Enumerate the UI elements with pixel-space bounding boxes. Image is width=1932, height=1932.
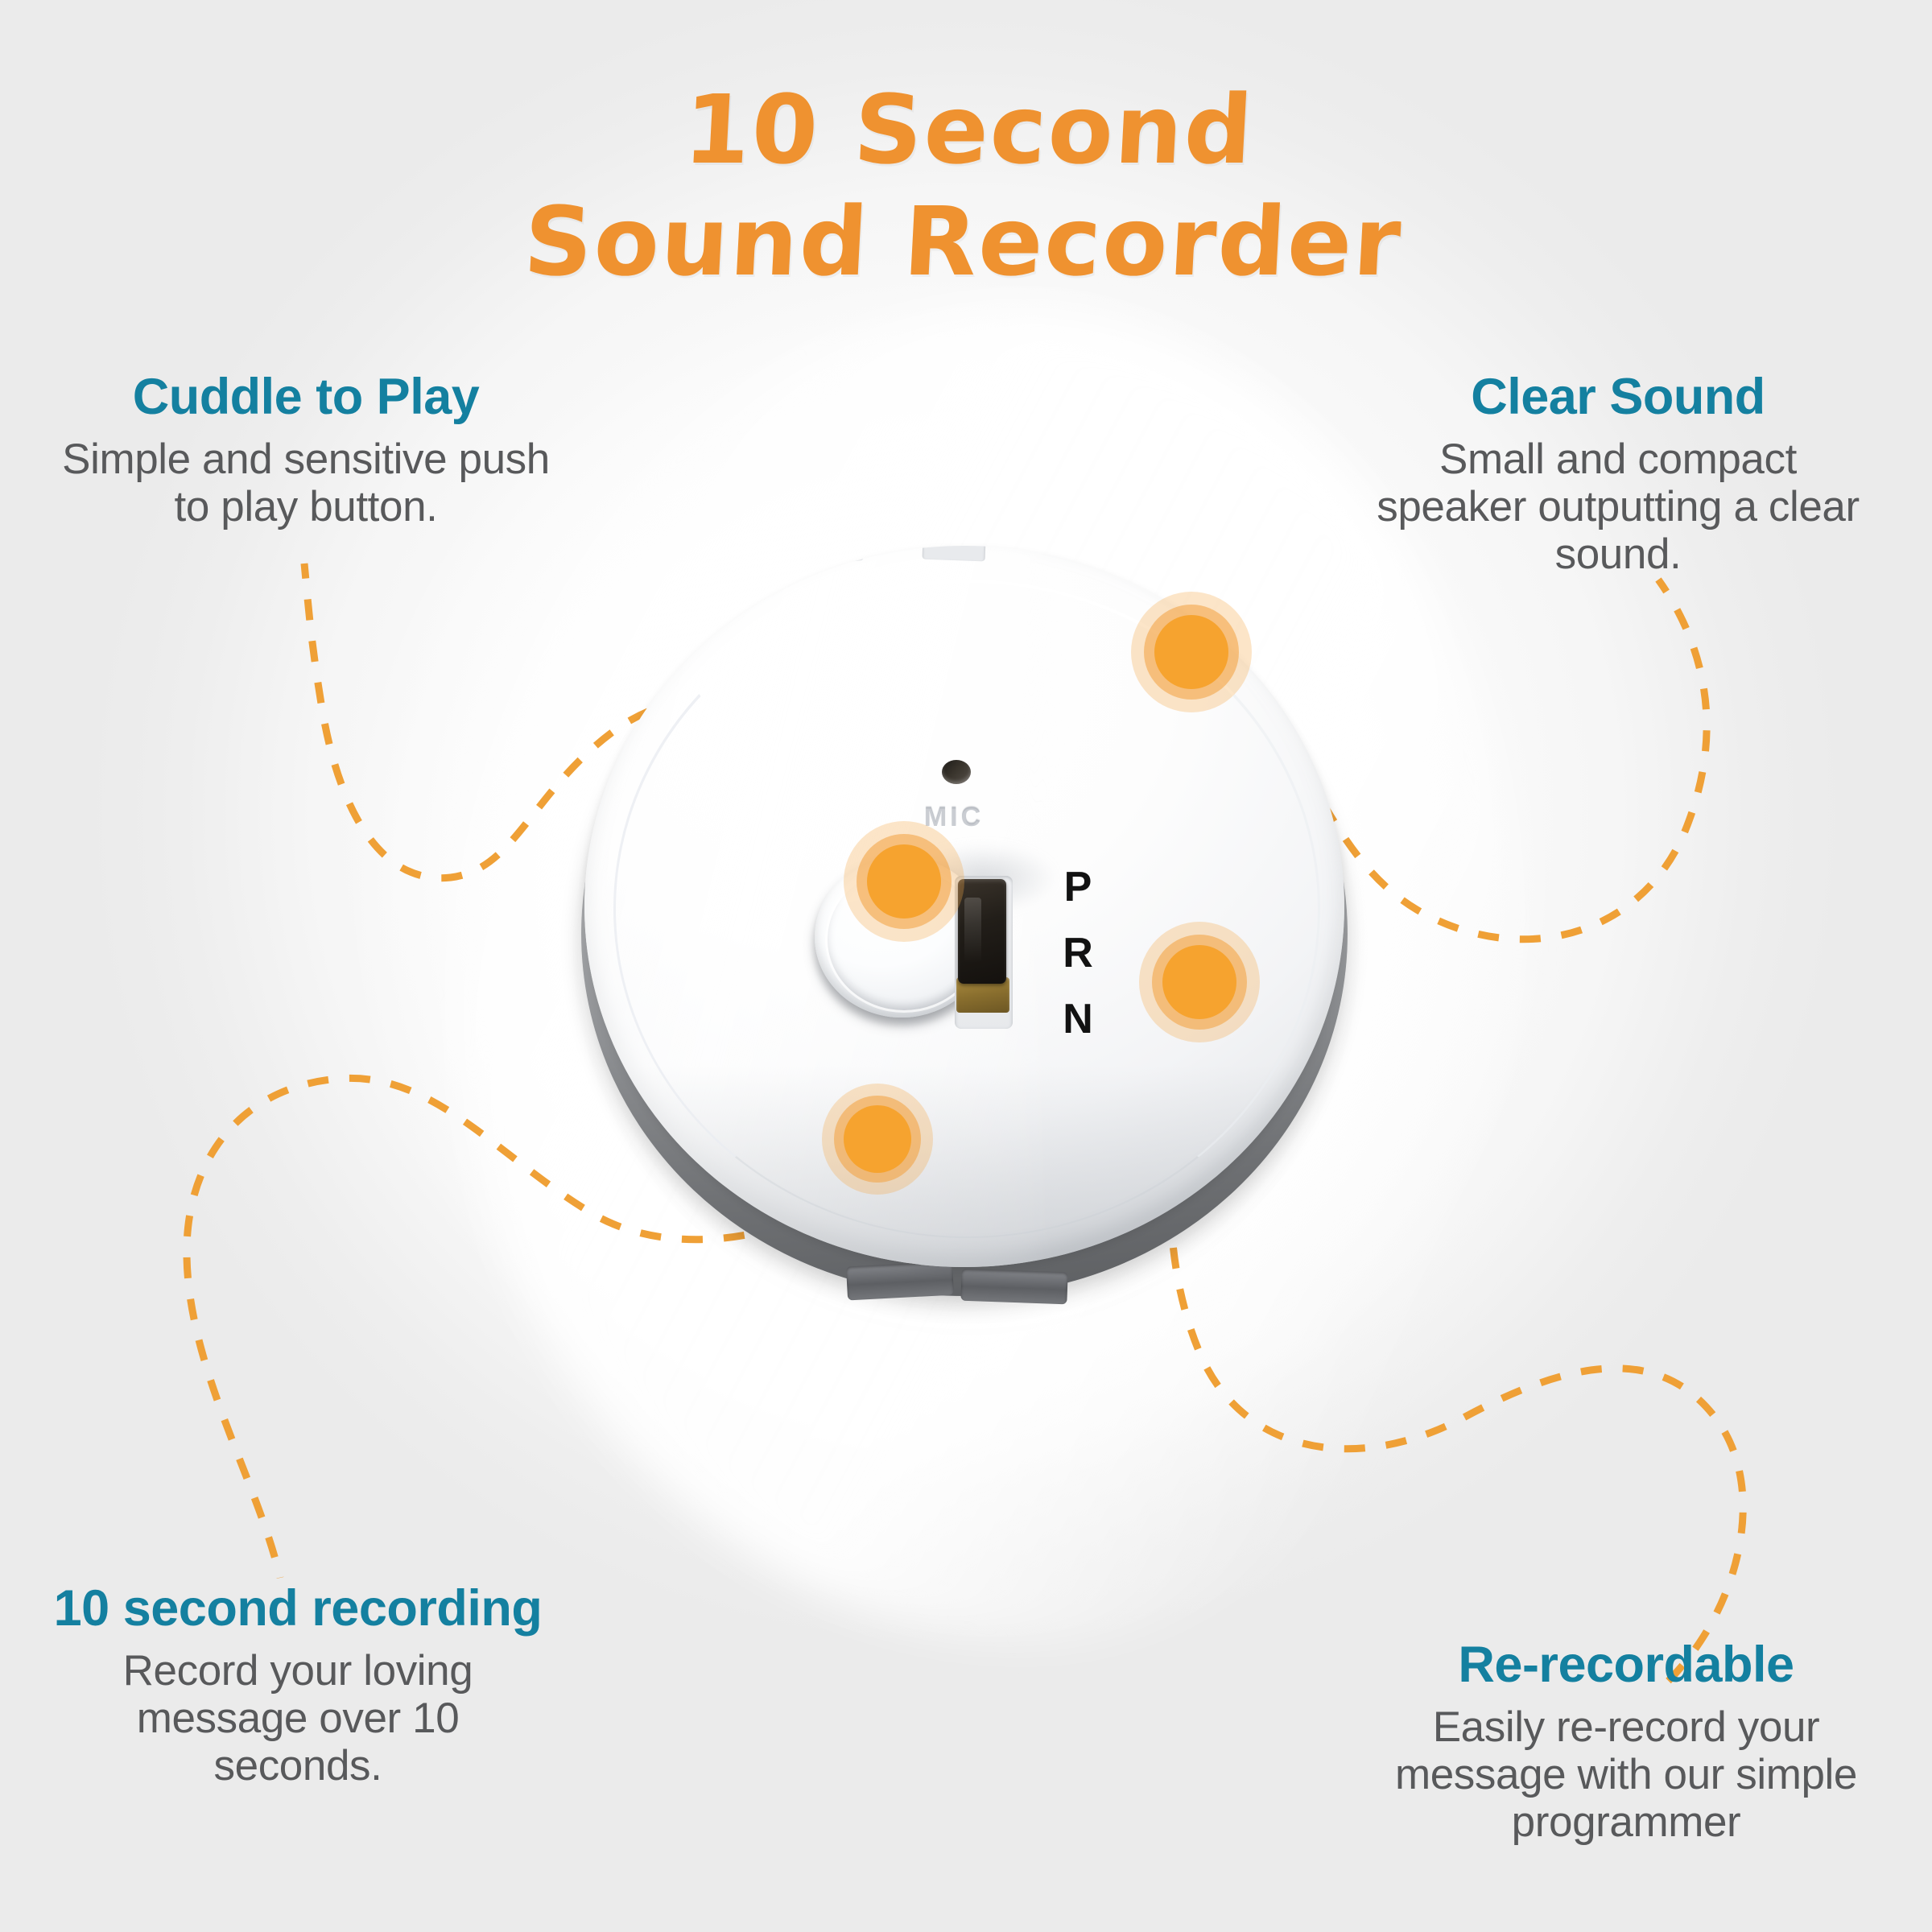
hotspot-core <box>867 844 941 919</box>
feature-body: Small and compact speaker outputting a c… <box>1360 436 1876 579</box>
feature-heading: Cuddle to Play <box>48 370 563 424</box>
face-notch-right <box>923 546 986 561</box>
page-title: 10 Second Sound Recorder <box>0 74 1932 298</box>
switch-label-p: P <box>1050 866 1106 908</box>
switch-hotspot[interactable] <box>1139 922 1260 1042</box>
feature-heading: Clear Sound <box>1360 370 1876 424</box>
switch-label-r: R <box>1050 932 1106 974</box>
hotspot-core <box>844 1105 911 1173</box>
hotspot-core <box>1162 945 1236 1019</box>
feature-cuddle-to-play: Cuddle to Play Simple and sensitive push… <box>48 370 563 530</box>
mode-switch-labels: P R N <box>1050 866 1106 1064</box>
feature-heading: Re-recordable <box>1368 1638 1884 1692</box>
play-button-hotspot[interactable] <box>844 821 964 942</box>
title-line-1: 10 Second <box>0 74 1932 186</box>
infographic-canvas: 10 Second Sound Recorder MI <box>0 0 1932 1932</box>
record-hotspot[interactable] <box>822 1084 933 1195</box>
rim-notch-bottom-right <box>960 1269 1067 1305</box>
feature-body: Simple and sensitive push to play button… <box>48 436 563 531</box>
feature-body: Record your loving message over 10 secon… <box>48 1647 547 1790</box>
title-line-2: Sound Recorder <box>0 186 1932 298</box>
feature-re-recordable: Re-recordable Easily re-record your mess… <box>1368 1638 1884 1847</box>
switch-label-n: N <box>1050 998 1106 1040</box>
speaker-hotspot[interactable] <box>1131 592 1252 712</box>
microphone-hole <box>942 760 971 784</box>
feature-body: Easily re-record your message with our s… <box>1368 1703 1884 1847</box>
hotspot-core <box>1154 615 1228 689</box>
feature-ten-second-recording: 10 second recording Record your loving m… <box>48 1582 547 1790</box>
mode-switch-knob[interactable] <box>958 879 1006 984</box>
feature-heading: 10 second recording <box>48 1582 547 1636</box>
feature-clear-sound: Clear Sound Small and compact speaker ou… <box>1360 370 1876 579</box>
